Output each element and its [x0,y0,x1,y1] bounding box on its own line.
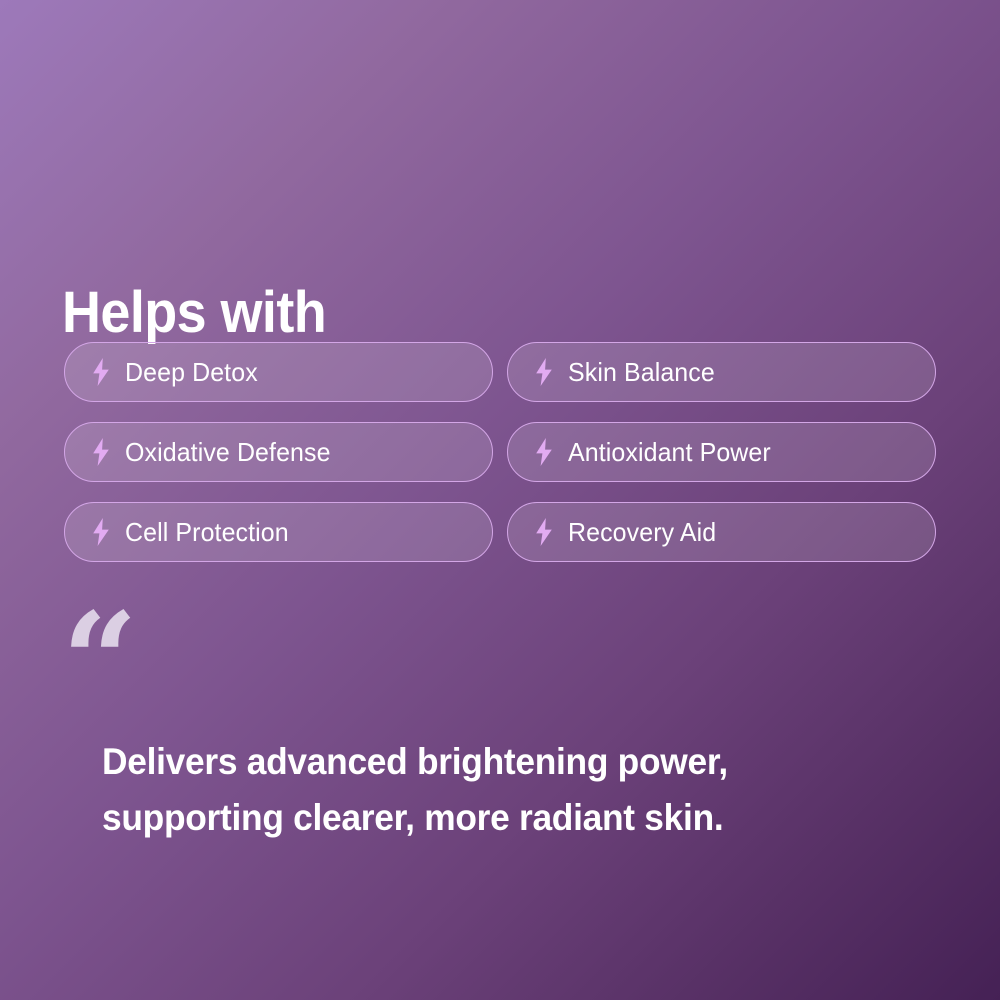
benefit-chip[interactable]: Skin Balance [507,342,936,402]
lightning-bolt-icon [534,518,554,546]
benefit-chip-label: Recovery Aid [568,517,716,548]
benefit-chip[interactable]: Oxidative Defense [64,422,493,482]
promo-poster: Helps with Deep Detox Skin Balance [0,0,1000,1000]
quote-line: supporting clearer, more radiant skin. [102,790,885,846]
benefit-chip-label: Skin Balance [568,357,715,388]
benefit-chip-label: Antioxidant Power [568,437,771,468]
lightning-bolt-icon [534,438,554,466]
quote-mark-icon: “ [62,596,132,728]
benefit-chip-grid: Deep Detox Skin Balance Oxidative Defens… [64,342,936,562]
benefit-chip-label: Oxidative Defense [125,437,331,468]
benefit-chip[interactable]: Deep Detox [64,342,493,402]
quote-text: Delivers advanced brightening power, sup… [102,734,885,846]
quote-line: Delivers advanced brightening power, [102,734,885,790]
lightning-bolt-icon [91,358,111,386]
lightning-bolt-icon [91,438,111,466]
benefit-chip-label: Deep Detox [125,357,258,388]
benefit-chip[interactable]: Cell Protection [64,502,493,562]
benefit-chip[interactable]: Antioxidant Power [507,422,936,482]
benefit-chip[interactable]: Recovery Aid [507,502,936,562]
page-title: Helps with [62,282,326,344]
lightning-bolt-icon [91,518,111,546]
lightning-bolt-icon [534,358,554,386]
benefit-chip-label: Cell Protection [125,517,289,548]
